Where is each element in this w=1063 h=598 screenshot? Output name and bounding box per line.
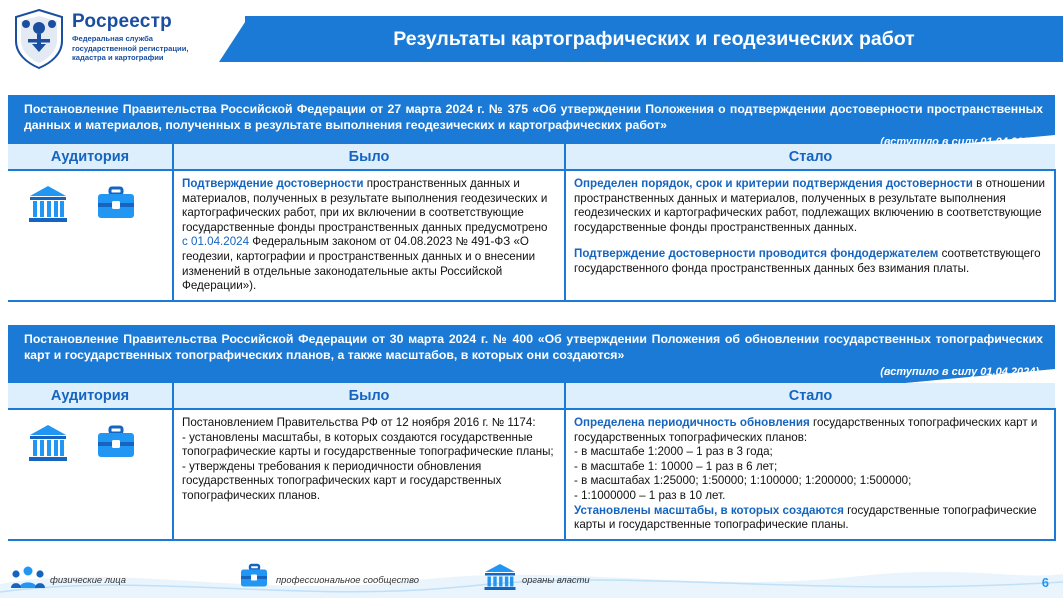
audience-cell-2 [8, 409, 173, 540]
russian-coat-of-arms-icon [10, 8, 68, 70]
list-item: - в масштабах 1:25000; 1:50000; 1:100000… [574, 474, 1046, 489]
government-building-icon [27, 184, 69, 229]
was-cell-1: Подтверждение достоверности пространстве… [173, 170, 565, 301]
legend-label: физические лица [50, 574, 126, 585]
col-header-was: Было [173, 383, 565, 409]
comparison-table-1: Аудитория Было Стало [8, 144, 1056, 302]
logo-subtitle: Федеральная служба государственной регис… [72, 34, 202, 63]
page-header: Росреестр Федеральная служба государстве… [0, 0, 1063, 84]
was-cell-2: Постановлением Правительства РФ от 12 но… [173, 409, 565, 540]
audience-cell-1 [8, 170, 173, 301]
logo-title: Росреестр [72, 12, 202, 32]
now-lead-1: Определен порядок, срок и критерии подтв… [574, 177, 973, 190]
list-item: - 1:1000000 – 1 раз в 10 лет. [574, 489, 1046, 504]
col-header-now: Стало [565, 144, 1055, 170]
now-lead-2: Определена периодичность обновления [574, 416, 810, 429]
decree-banner-1: Постановление Правительства Российской Ф… [8, 95, 1055, 149]
legend-label: профессиональное сообщество [276, 574, 419, 585]
decree-banner-2-text: Постановление Правительства Российской Ф… [8, 325, 1055, 364]
now-cell-1: Определен порядок, срок и критерии подтв… [565, 170, 1055, 301]
was-text-2: Постановлением Правительства РФ от 12 но… [182, 416, 554, 502]
briefcase-icon [95, 424, 137, 467]
decree-banner-2-effective: (вступило в силу 01.04.2024) [8, 364, 1055, 378]
was-date-1: с 01.04.2024 [182, 235, 249, 248]
table-row: Подтверждение достоверности пространстве… [8, 170, 1055, 301]
decree-banner-1-text: Постановление Правительства Российской Ф… [8, 95, 1055, 134]
page-title-text: Результаты картографических и геодезичес… [245, 16, 1063, 62]
page-title: Результаты картографических и геодезичес… [245, 16, 1063, 62]
now-cell-2: Определена периодичность обновления госу… [565, 409, 1055, 540]
now-lead2-2: Установлены масштабы, в которых создаютс… [574, 504, 844, 517]
comparison-table-2: Аудитория Было Стало [8, 383, 1056, 541]
page-number: 6 [1042, 575, 1049, 590]
table-header-row: Аудитория Было Стало [8, 383, 1055, 409]
briefcase-icon [236, 563, 272, 595]
legend-item-authorities: органы власти [482, 563, 712, 596]
now-lead2-1: Подтверждение достоверности проводится ф… [574, 247, 938, 260]
briefcase-icon [95, 185, 137, 228]
col-header-audience: Аудитория [8, 144, 173, 170]
table-row: Постановлением Правительства РФ от 12 но… [8, 409, 1055, 540]
list-item: - в масштабе 1:2000 – 1 раз в 3 года; [574, 445, 1046, 460]
logo: Росреестр Федеральная служба государстве… [10, 8, 225, 70]
legend: физические лица профессиональное сообщес… [0, 560, 1063, 598]
list-item: - в масштабе 1: 10000 – 1 раз в 6 лет; [574, 460, 1046, 475]
government-building-icon [482, 563, 518, 596]
col-header-was: Было [173, 144, 565, 170]
col-header-audience: Аудитория [8, 383, 173, 409]
government-building-icon [27, 423, 69, 468]
table-header-row: Аудитория Было Стало [8, 144, 1055, 170]
scale-list: - в масштабе 1:2000 – 1 раз в 3 года; - … [574, 445, 1046, 503]
col-header-now: Стало [565, 383, 1055, 409]
was-lead-1: Подтверждение достоверности [182, 177, 364, 190]
decree-banner-2: Постановление Правительства Российской Ф… [8, 325, 1055, 383]
people-group-icon [10, 564, 46, 595]
legend-label: органы власти [522, 574, 590, 585]
legend-item-professional: профессиональное сообщество [236, 563, 456, 595]
legend-item-individuals: физические лица [10, 564, 210, 595]
